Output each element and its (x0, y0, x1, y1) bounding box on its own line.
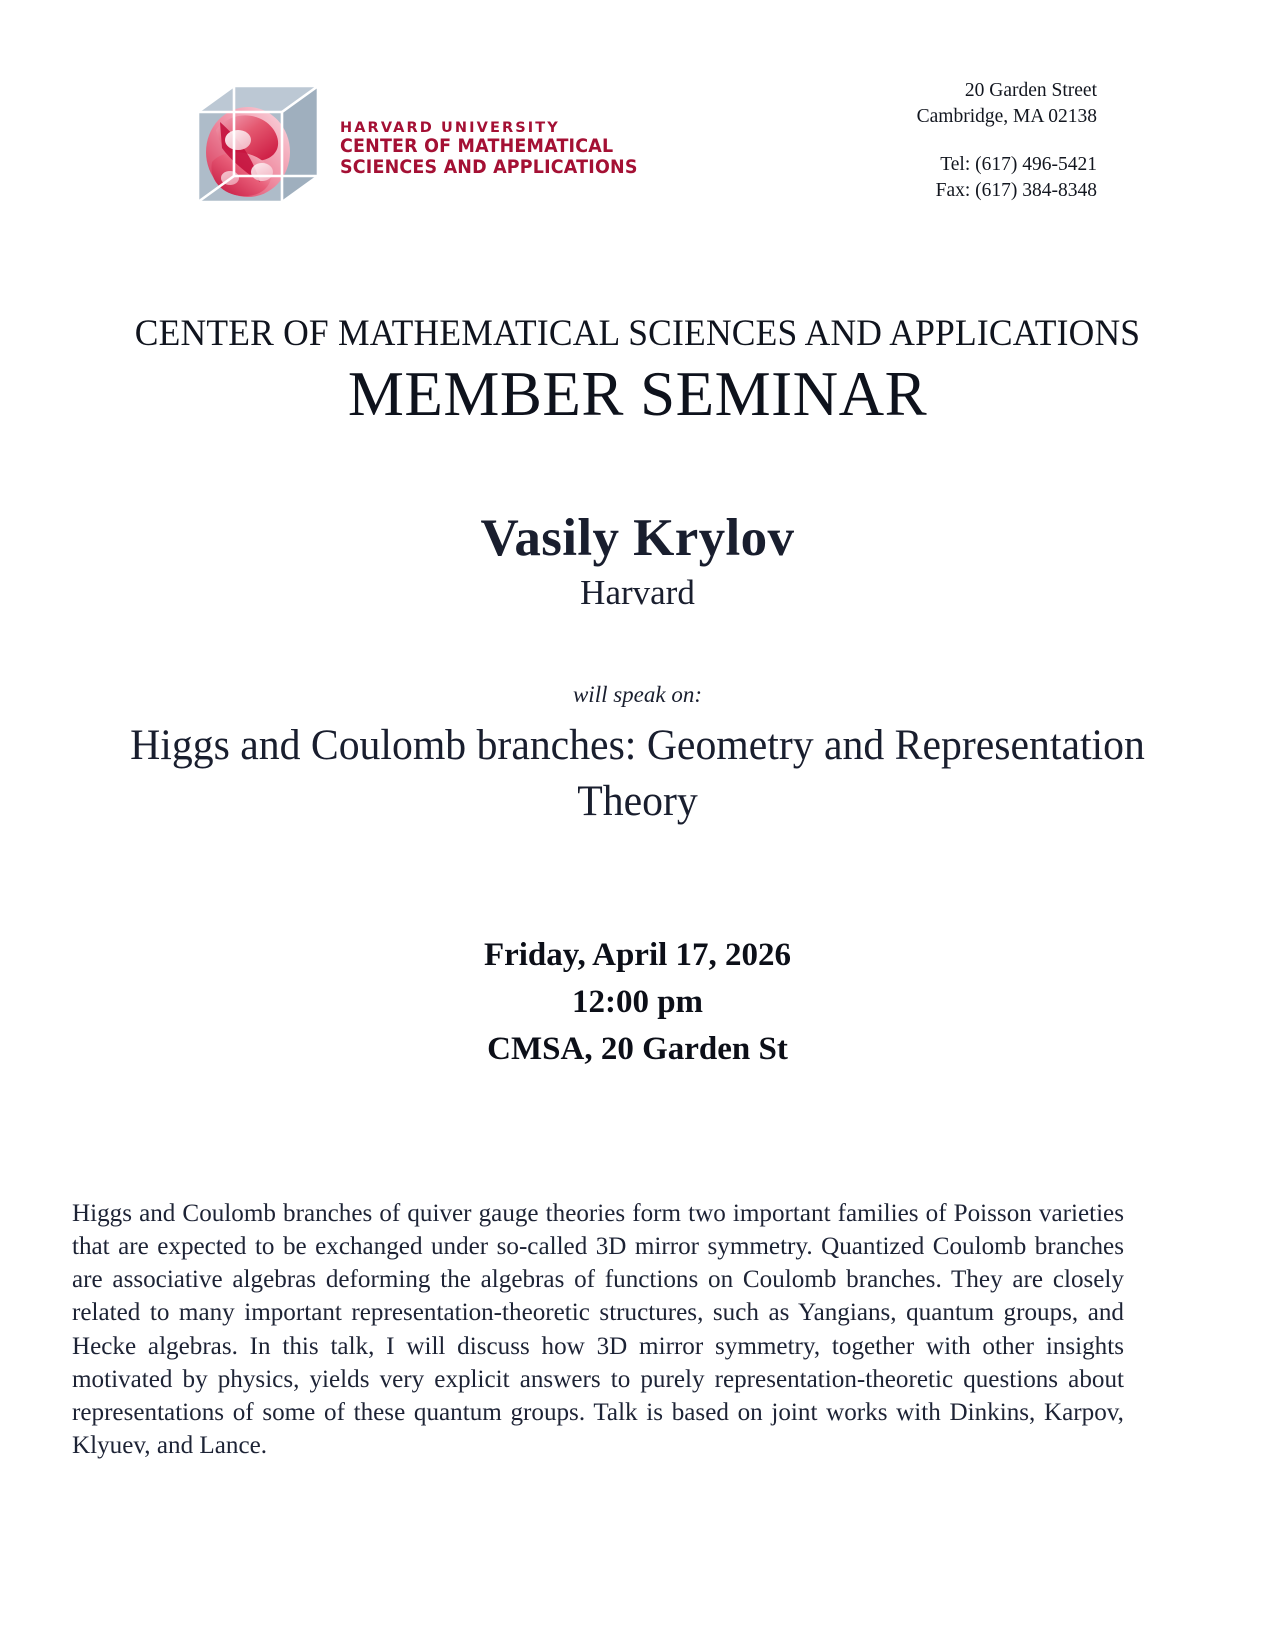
contact-address-block: 20 Garden Street Cambridge, MA 02138 Tel… (917, 78, 1097, 205)
organization-name: CENTER OF MATHEMATICAL SCIENCES AND APPL… (26, 312, 1250, 355)
talk-title: Higgs and Coulomb branches: Geometry and… (126, 718, 1149, 830)
event-location: CMSA, 20 Garden St (0, 1026, 1275, 1073)
contact-telephone: Tel: (617) 496-5421 (917, 152, 1097, 178)
cmsa-cube-logo-icon (190, 78, 326, 214)
seminar-poster-page: HARVARD UNIVERSITY CENTER OF MATHEMATICA… (0, 0, 1275, 1650)
abstract-text: Higgs and Coulomb branches of quiver gau… (72, 1196, 1124, 1461)
event-details: Friday, April 17, 2026 12:00 pm CMSA, 20… (0, 932, 1275, 1073)
address-street: 20 Garden Street (917, 78, 1097, 104)
page-title: MEMBER SEMINAR (0, 358, 1275, 431)
speaker-affiliation: Harvard (0, 573, 1275, 613)
event-date: Friday, April 17, 2026 (0, 932, 1275, 979)
cmsa-wordmark: HARVARD UNIVERSITY CENTER OF MATHEMATICA… (340, 120, 663, 179)
address-spacer (917, 130, 1097, 152)
wordmark-line-sciences: SCIENCES AND APPLICATIONS (340, 157, 638, 178)
wordmark-line-center: CENTER OF MATHEMATICAL (340, 136, 638, 157)
event-time: 12:00 pm (0, 979, 1275, 1026)
will-speak-on-label: will speak on: (0, 682, 1275, 708)
speaker-name: Vasily Krylov (0, 508, 1275, 568)
wordmark-line-harvard: HARVARD UNIVERSITY (340, 120, 663, 136)
letterhead-header: HARVARD UNIVERSITY CENTER OF MATHEMATICA… (0, 60, 1275, 240)
address-city-state-zip: Cambridge, MA 02138 (917, 104, 1097, 130)
contact-fax: Fax: (617) 384-8348 (917, 178, 1097, 204)
cmsa-logo-block: HARVARD UNIVERSITY CENTER OF MATHEMATICA… (190, 78, 663, 214)
